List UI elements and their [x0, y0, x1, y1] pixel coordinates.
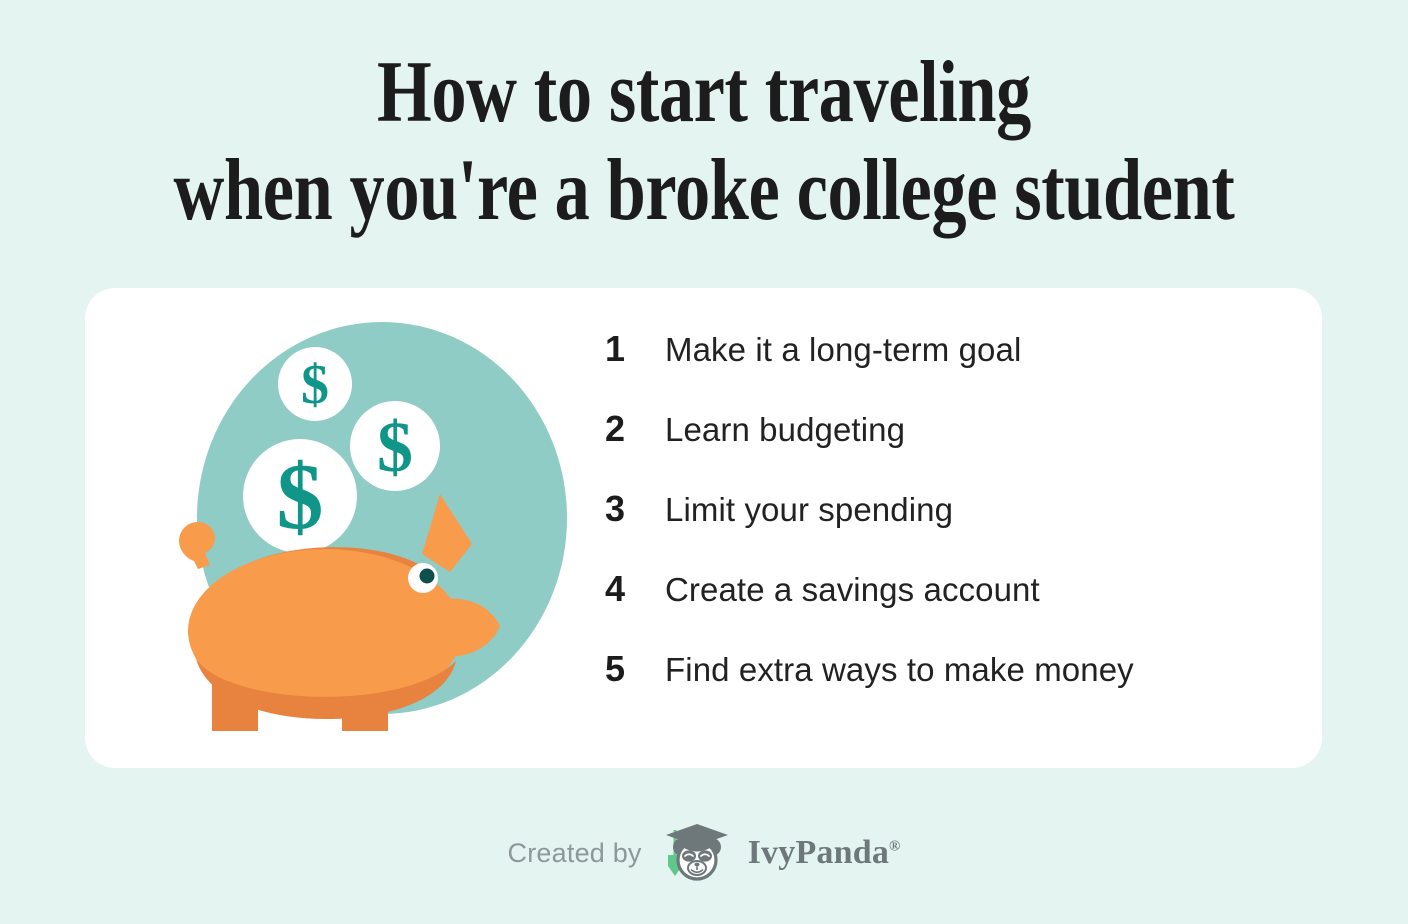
- pig-eye: [408, 563, 438, 593]
- step-number: 5: [605, 648, 665, 690]
- steps-list: 1 Make it a long-term goal 2 Learn budge…: [605, 328, 1295, 728]
- step-number: 2: [605, 408, 665, 450]
- step-label: Create a savings account: [665, 571, 1040, 609]
- list-item: 1 Make it a long-term goal: [605, 328, 1295, 408]
- step-label: Make it a long-term goal: [665, 331, 1021, 369]
- brand-wordmark: IvyPanda®: [748, 834, 901, 872]
- list-item: 2 Learn budgeting: [605, 408, 1295, 488]
- coin-medium-icon: $: [350, 401, 440, 491]
- piggy-bank-illustration: $ $ $: [150, 306, 610, 756]
- content-card: $ $ $: [85, 288, 1322, 768]
- created-by-label: Created by: [508, 838, 642, 869]
- footer-attribution: Created by: [0, 822, 1408, 884]
- page-title: How to start traveling when you're a bro…: [0, 48, 1408, 236]
- step-label: Find extra ways to make money: [665, 651, 1134, 689]
- list-item: 5 Find extra ways to make money: [605, 648, 1295, 728]
- step-number: 1: [605, 328, 665, 370]
- list-item: 3 Limit your spending: [605, 488, 1295, 568]
- ivypanda-panda-graduate-logo-icon: [658, 822, 732, 884]
- step-label: Learn budgeting: [665, 411, 905, 449]
- coin-small-icon: $: [278, 347, 352, 421]
- coin-large-icon: $: [243, 439, 357, 553]
- svg-text:$: $: [277, 445, 324, 549]
- list-item: 4 Create a savings account: [605, 568, 1295, 648]
- svg-text:$: $: [301, 354, 329, 416]
- page-title-line-1: How to start traveling: [141, 48, 1267, 138]
- brand-name: IvyPanda: [748, 834, 889, 871]
- step-number: 3: [605, 488, 665, 530]
- step-number: 4: [605, 568, 665, 610]
- svg-text:$: $: [377, 407, 413, 487]
- step-label: Limit your spending: [665, 491, 953, 529]
- page-title-line-2: when you're a broke college student: [141, 146, 1267, 236]
- registered-mark: ®: [889, 839, 900, 855]
